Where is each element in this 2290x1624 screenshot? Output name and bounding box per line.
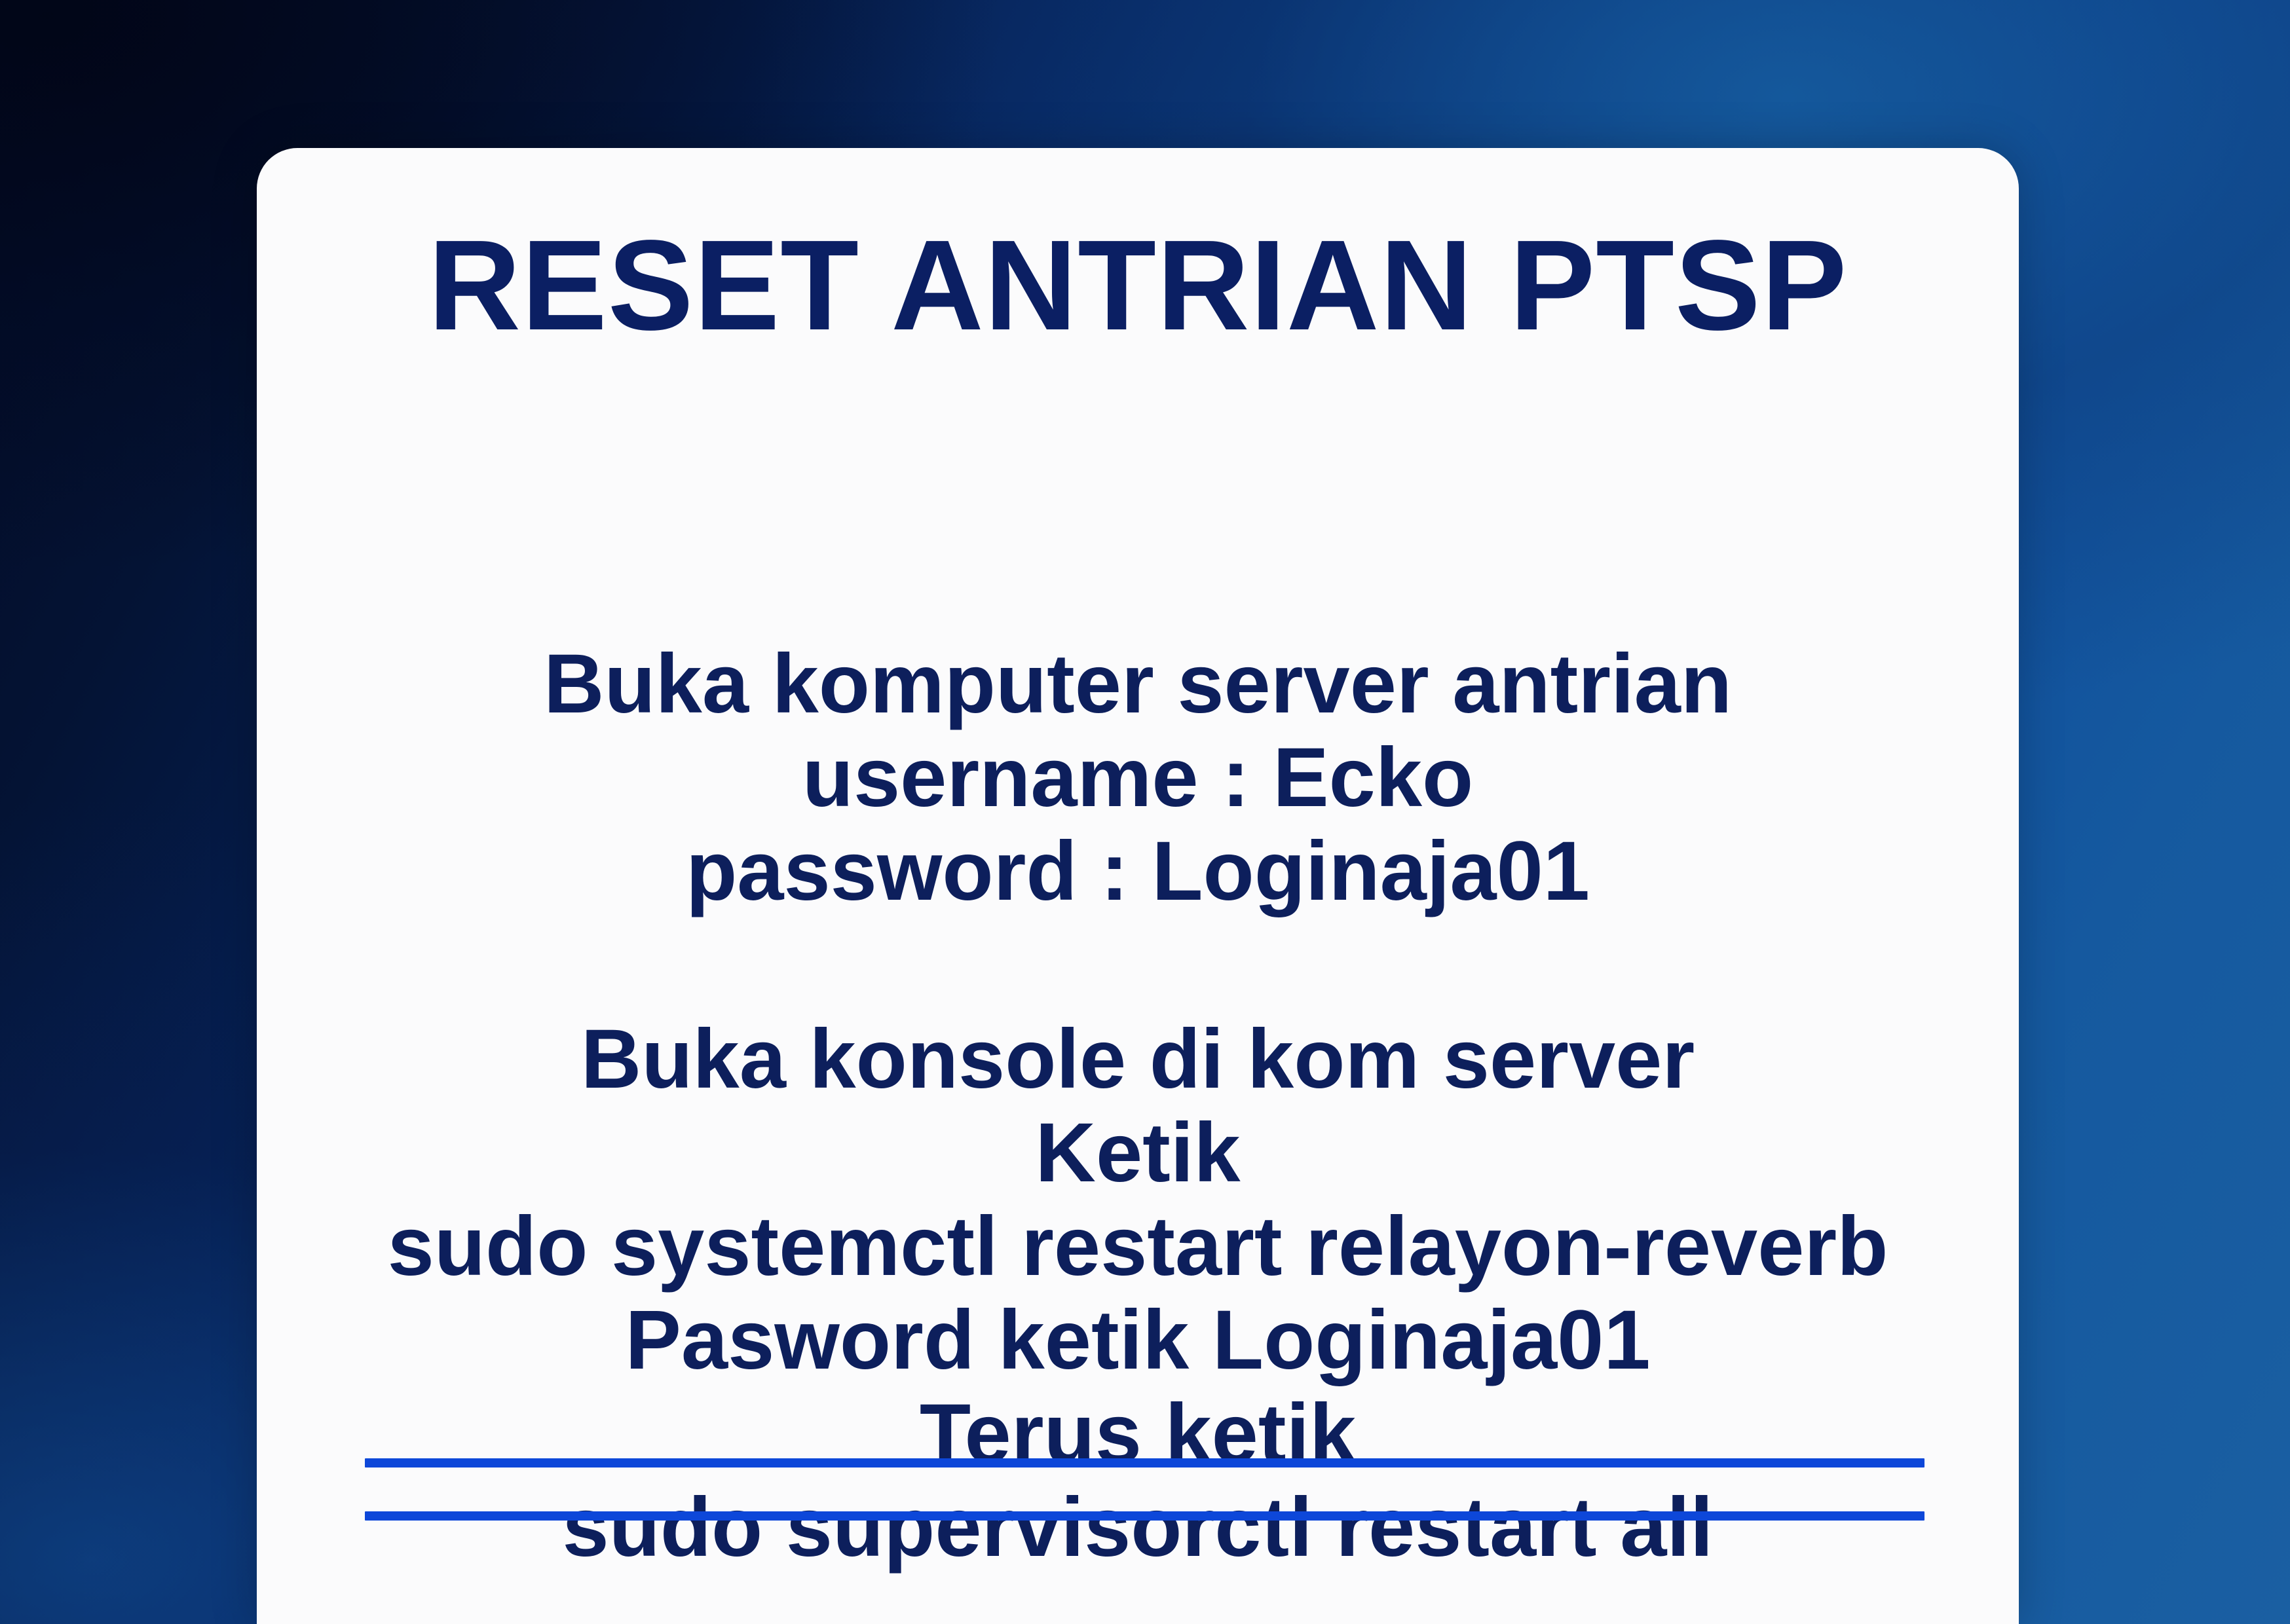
instruction-line: Buka konsole di kom server bbox=[257, 1012, 2019, 1106]
instruction-line-command-supervisorctl: sudo supervisorctl restart all bbox=[257, 1481, 2019, 1574]
instruction-line: Ketik bbox=[257, 1106, 2019, 1200]
divider-rule-bottom bbox=[365, 1511, 1924, 1521]
instruction-line-password-prompt: Pasword ketik Loginaja01 bbox=[257, 1293, 2019, 1387]
content-card: RESET ANTRIAN PTSP Buka komputer server … bbox=[257, 148, 2019, 1624]
instruction-line: Buka komputer server antrian bbox=[257, 637, 2019, 731]
instruction-line-command-systemctl: sudo systemctl restart relayon-reverb bbox=[257, 1200, 2019, 1293]
instruction-block-login: Buka komputer server antrian username : … bbox=[257, 637, 2019, 918]
instruction-block-console: Buka konsole di kom server Ketik sudo sy… bbox=[257, 1012, 2019, 1574]
poster-canvas: RESET ANTRIAN PTSP Buka komputer server … bbox=[0, 0, 2290, 1624]
instruction-line-username: username : Ecko bbox=[257, 731, 2019, 824]
instruction-line-password: password : Loginaja01 bbox=[257, 824, 2019, 918]
divider-rule-top bbox=[365, 1458, 1924, 1467]
page-title: RESET ANTRIAN PTSP bbox=[257, 221, 2019, 350]
